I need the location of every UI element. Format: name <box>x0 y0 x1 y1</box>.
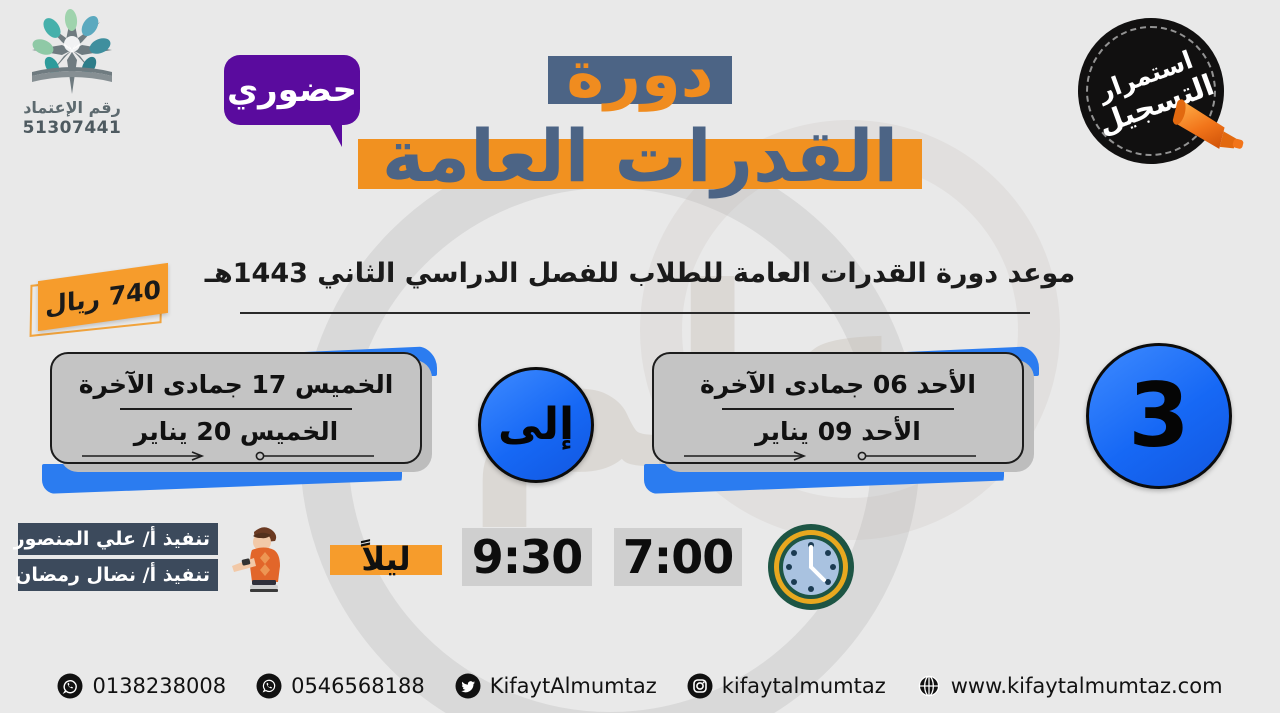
instructors-list: تنفيذ أ/ علي المنصور تنفيذ أ/ نضال رمضان <box>18 523 218 595</box>
registration-badge: استمرار التسجيل <box>1078 18 1224 164</box>
card-arrow-decoration <box>684 446 814 456</box>
contact-value: 0546568188 <box>291 674 425 698</box>
clock-icon <box>764 520 858 614</box>
time-period-badge: ليلاً <box>330 537 442 581</box>
time-end: 9:30 <box>462 528 592 586</box>
contact-website[interactable]: www.kifaytalmumtaz.com <box>916 673 1223 699</box>
whatsapp-icon <box>256 673 282 699</box>
instagram-icon <box>687 673 713 699</box>
card-arrow-decoration <box>82 446 212 456</box>
contact-whatsapp-1[interactable]: 0138238008 <box>57 673 226 699</box>
contact-value: 0138238008 <box>92 674 226 698</box>
start-date-hijri: الأحد 06 جمادى الآخرة <box>700 370 976 399</box>
sessions-count-value: 3 <box>1128 372 1189 460</box>
card-dot-decoration <box>254 446 374 456</box>
teacher-pointing-icon <box>228 520 298 594</box>
title-line-1-text: دورة <box>566 38 713 112</box>
instructor-item: تنفيذ أ/ علي المنصور <box>18 523 218 555</box>
card-panel: الأحد 06 جمادى الآخرة الأحد 09 يناير <box>652 352 1024 464</box>
contact-value: kifaytalmumtaz <box>722 674 886 698</box>
card-divider <box>722 408 954 410</box>
contact-value: KifaytAlmumtaz <box>490 674 657 698</box>
contact-twitter[interactable]: KifaytAlmumtaz <box>455 673 657 699</box>
end-date-gregorian: الخميس 20 يناير <box>134 417 338 446</box>
schedule-end-card: الخميس 17 جمادى الآخرة الخميس 20 يناير <box>46 350 432 472</box>
twitter-icon <box>455 673 481 699</box>
contact-instagram[interactable]: kifaytalmumtaz <box>687 673 886 699</box>
contact-value: www.kifaytalmumtaz.com <box>951 674 1223 698</box>
schedule-connector-circle: إلى <box>478 367 594 483</box>
time-start: 7:00 <box>614 528 742 586</box>
footer-contacts: 0138238008 0546568188 KifaytAlmumtaz <box>0 673 1280 699</box>
subtitle-divider <box>240 312 1030 314</box>
card-dot-decoration <box>856 446 976 456</box>
whatsapp-icon <box>57 673 83 699</box>
instructor-item: تنفيذ أ/ نضال رمضان <box>18 559 218 591</box>
title-line-1: دورة <box>548 42 731 109</box>
poster-canvas: علم <box>0 0 1280 713</box>
schedule-connector-label: إلى <box>498 403 574 447</box>
title-line-2-text: القدرات العامة <box>382 114 898 198</box>
card-panel: الخميس 17 جمادى الآخرة الخميس 20 يناير <box>50 352 422 464</box>
start-date-gregorian: الأحد 09 يناير <box>755 417 921 446</box>
sessions-count-circle: 3 <box>1086 343 1232 489</box>
price-badge: 740 ريال <box>26 272 166 334</box>
contact-whatsapp-2[interactable]: 0546568188 <box>256 673 425 699</box>
subtitle: موعد دورة القدرات العامة للطلاب للفصل ال… <box>0 258 1280 289</box>
card-divider <box>120 408 352 410</box>
subtitle-text: موعد دورة القدرات العامة للطلاب للفصل ال… <box>205 258 1075 289</box>
time-period-label: ليلاً <box>330 537 442 581</box>
schedule-start-card: الأحد 06 جمادى الآخرة الأحد 09 يناير <box>648 350 1034 472</box>
globe-icon <box>916 673 942 699</box>
end-date-hijri: الخميس 17 جمادى الآخرة <box>79 370 394 399</box>
title-line-2: القدرات العامة <box>358 117 922 196</box>
